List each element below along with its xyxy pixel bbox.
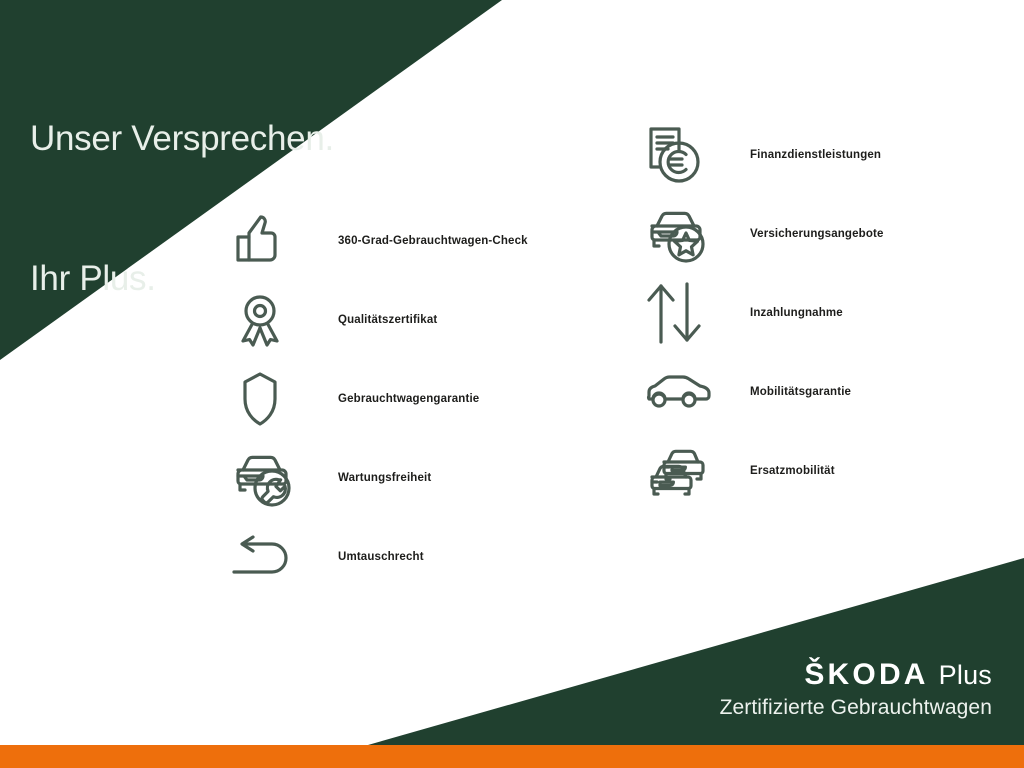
feature-item: Qualitätszertifikat	[232, 285, 528, 354]
feature-list-left: 360-Grad-Gebrauchtwagen-Check Qualitätsz…	[232, 206, 528, 591]
feature-label: Ersatzmobilität	[750, 465, 835, 477]
feature-label: Mobilitätsgarantie	[750, 386, 851, 398]
logo-top-row: ŠKODA Plus	[720, 660, 992, 690]
two-cars-icon	[646, 439, 716, 503]
feature-item: Mobilitätsgarantie	[646, 357, 884, 426]
feature-label: Wartungsfreiheit	[338, 472, 431, 484]
feature-item: 360-Grad-Gebrauchtwagen-Check	[232, 206, 528, 275]
feature-item: Umtauschrecht	[232, 522, 528, 591]
orange-accent-bar	[0, 745, 1024, 768]
feature-item: Ersatzmobilität	[646, 436, 884, 505]
feature-item: Versicherungsangebote	[646, 199, 884, 268]
return-arrow-icon	[232, 525, 302, 589]
feature-item: Wartungsfreiheit	[232, 443, 528, 512]
feature-label: Umtauschrecht	[338, 551, 424, 563]
feature-label: Inzahlungnahme	[750, 307, 843, 319]
logo-subtitle: Zertifizierte Gebrauchtwagen	[720, 696, 992, 720]
feature-item: Finanzdienstleistungen	[646, 120, 884, 189]
skoda-wordmark: ŠKODA	[804, 660, 928, 690]
shield-icon	[232, 367, 302, 431]
feature-label: Finanzdienstleistungen	[750, 149, 881, 161]
feature-list-right: Finanzdienstleistungen Versicherungsange…	[646, 120, 884, 505]
feature-item: Gebrauchtwagengarantie	[232, 364, 528, 433]
feature-label: 360-Grad-Gebrauchtwagen-Check	[338, 235, 528, 247]
document-euro-icon	[646, 123, 716, 187]
feature-label: Qualitätszertifikat	[338, 314, 437, 326]
thumbs-up-icon	[232, 209, 302, 273]
feature-label: Versicherungsangebote	[750, 228, 884, 240]
promo-banner: Unser Versprechen. Ihr Plus. 360-Grad-Ge…	[0, 0, 1024, 768]
award-rosette-icon	[232, 288, 302, 352]
car-wrench-icon	[232, 446, 302, 510]
car-side-icon	[646, 360, 716, 424]
up-down-arrows-icon	[646, 281, 716, 345]
feature-item: Inzahlungnahme	[646, 278, 884, 347]
plus-wordmark: Plus	[939, 662, 992, 689]
skoda-plus-logo: ŠKODA Plus Zertifizierte Gebrauchtwagen	[720, 660, 992, 720]
feature-label: Gebrauchtwagengarantie	[338, 393, 479, 405]
car-star-icon	[646, 202, 716, 266]
headline-line-1: Unser Versprechen.	[30, 116, 334, 163]
